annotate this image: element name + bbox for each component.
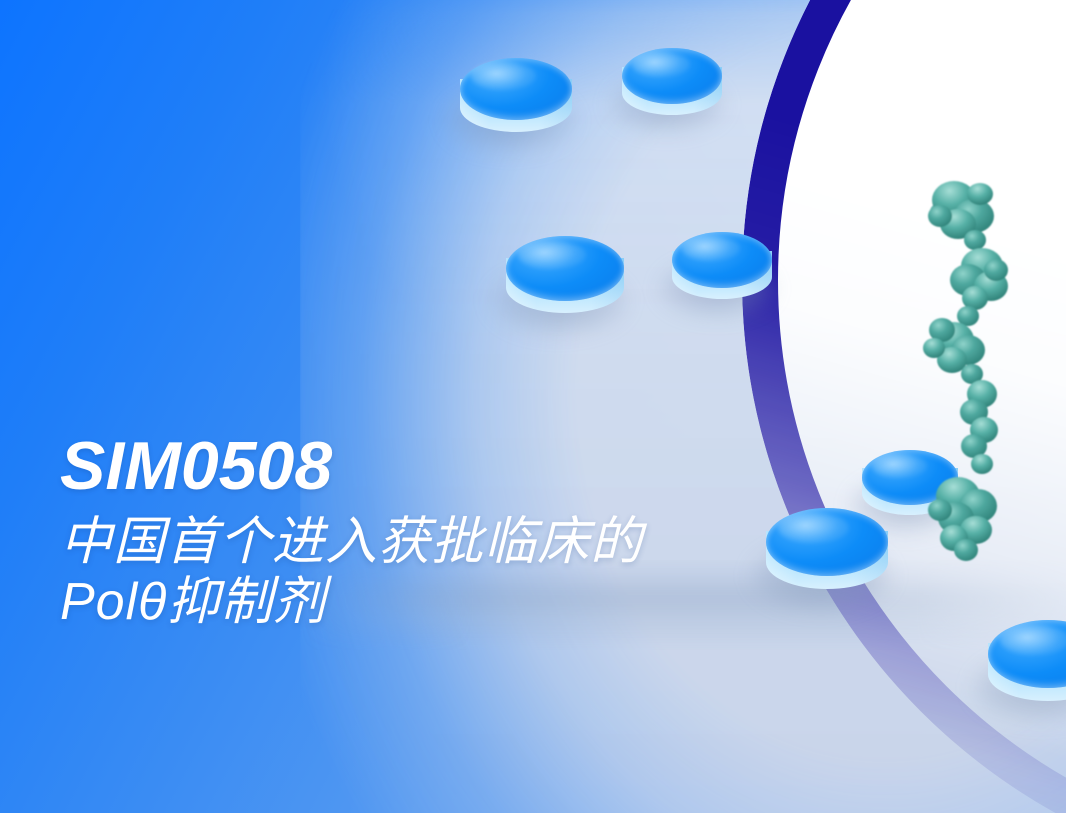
page-title: SIM0508 [60, 432, 890, 501]
headline-block: SIM0508 中国首个进入获批临床的 Polθ抑制剂 [60, 432, 890, 632]
subtitle: 中国首个进入获批临床的 Polθ抑制剂 [60, 513, 890, 632]
pill-3 [506, 236, 624, 326]
pill-gloss [518, 241, 586, 270]
pill-2 [622, 48, 722, 126]
slide-canvas: SIM0508 中国首个进入获批临床的 Polθ抑制剂 [0, 0, 1066, 813]
pill-gloss [471, 62, 536, 90]
pill-4 [672, 232, 772, 310]
pill-gloss [682, 236, 740, 261]
pill-1 [460, 58, 572, 144]
pill-gloss [632, 52, 690, 77]
pill-7 [988, 620, 1066, 714]
pill-gloss [1000, 625, 1066, 655]
subtitle-line-1: 中国首个进入获批临床的 [60, 513, 890, 572]
subtitle-line-2: Polθ抑制剂 [60, 573, 890, 632]
